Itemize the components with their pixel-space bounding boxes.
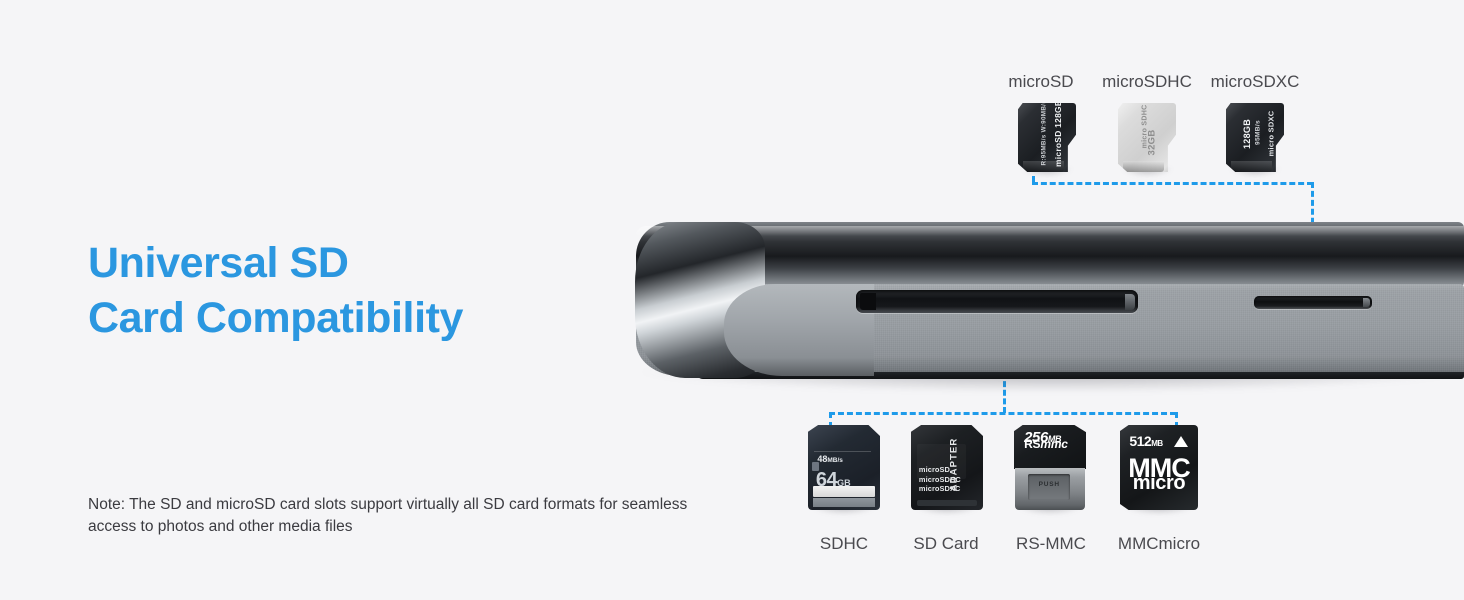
microsdhc-capacity-text: 32GB bbox=[1147, 115, 1158, 171]
mmcmicro-capacity-text: 512MB bbox=[1129, 433, 1162, 449]
card-sdhc[interactable]: 48MB/s 64GB bbox=[808, 425, 880, 510]
mmcmicro-capacity-value: 512 bbox=[1129, 433, 1151, 449]
connector-bottom-horizontal bbox=[829, 412, 1176, 415]
rsmmc-name-suffix: mmc bbox=[1040, 437, 1067, 451]
sdhc-speed-unit: MB/s bbox=[827, 457, 843, 464]
card-body: microSD microSDHC microSDXC ADAPTER bbox=[911, 425, 983, 510]
rsmmc-name-text: RSmmc bbox=[1024, 437, 1068, 451]
microsd-speed-text: R:95MB/s W:90MB/s bbox=[1041, 104, 1048, 166]
microsdxc-family-text: micro SDXC bbox=[1267, 103, 1276, 165]
adapter-microsd-slot bbox=[917, 500, 976, 506]
card-body-upper: 256MB RSmmc bbox=[1014, 425, 1086, 469]
rsmmc-push-well[interactable]: PUSH bbox=[1028, 474, 1070, 500]
page-title: Universal SD Card Compatibility bbox=[88, 236, 463, 346]
card-microsdhc[interactable]: micro SDHC 32GB bbox=[1118, 103, 1176, 172]
card-body: 512MB MMC micro bbox=[1120, 425, 1198, 510]
connector-top-horizontal bbox=[1032, 182, 1313, 185]
card-body: R:95MB/s W:90MB/s microSD 128GB bbox=[1018, 103, 1076, 172]
card-sd-adapter[interactable]: microSD microSDHC microSDXC ADAPTER bbox=[911, 425, 983, 510]
card-microsd[interactable]: R:95MB/s W:90MB/s microSD 128GB bbox=[1018, 103, 1076, 172]
mmcmicro-capacity-unit: MB bbox=[1151, 439, 1162, 448]
device-cap-inner-face bbox=[724, 284, 874, 376]
note-text: Note: The SD and microSD card slots supp… bbox=[88, 494, 708, 539]
sdhc-speed-value: 48 bbox=[817, 454, 827, 464]
microsdxc-speed-text: 95MB/s bbox=[1255, 102, 1262, 164]
rsmmc-name-prefix: RS bbox=[1024, 437, 1040, 451]
card-body: 128GB 95MB/s micro SDXC bbox=[1226, 103, 1284, 172]
usb-hub-device bbox=[636, 222, 1464, 382]
card-divider bbox=[814, 451, 872, 452]
sd-card-slot[interactable] bbox=[856, 290, 1138, 313]
label-microsdxc: microSDXC bbox=[1192, 72, 1318, 92]
card-mmcmicro[interactable]: 512MB MMC micro bbox=[1120, 425, 1198, 510]
triangle-icon bbox=[1174, 436, 1188, 447]
card-body: micro SDHC 32GB bbox=[1118, 103, 1176, 172]
mmcmicro-line2-text: micro bbox=[1120, 472, 1198, 495]
label-mmcmicro: MMCmicro bbox=[1096, 534, 1222, 554]
card-microsdxc[interactable]: 128GB 95MB/s micro SDXC bbox=[1226, 103, 1284, 172]
adapter-vertical-text: ADAPTER bbox=[949, 438, 960, 492]
card-label-band bbox=[813, 486, 875, 497]
card-body: 48MB/s 64GB bbox=[808, 425, 880, 510]
product-feature-banner: Universal SD Card Compatibility Note: Th… bbox=[0, 0, 1464, 600]
microsdxc-capacity-text: 128GB bbox=[1242, 103, 1252, 165]
microsd-card-slot[interactable] bbox=[1254, 296, 1372, 309]
card-label-band-lower bbox=[813, 498, 875, 507]
card-contacts bbox=[1123, 161, 1164, 172]
card-rs-mmc[interactable]: 256MB RSmmc PUSH bbox=[1014, 425, 1086, 510]
sdhc-speed-text: 48MB/s bbox=[817, 454, 843, 464]
rsmmc-push-text: PUSH bbox=[1028, 481, 1070, 488]
microsd-capacity-text: microSD 128GB bbox=[1053, 105, 1063, 167]
